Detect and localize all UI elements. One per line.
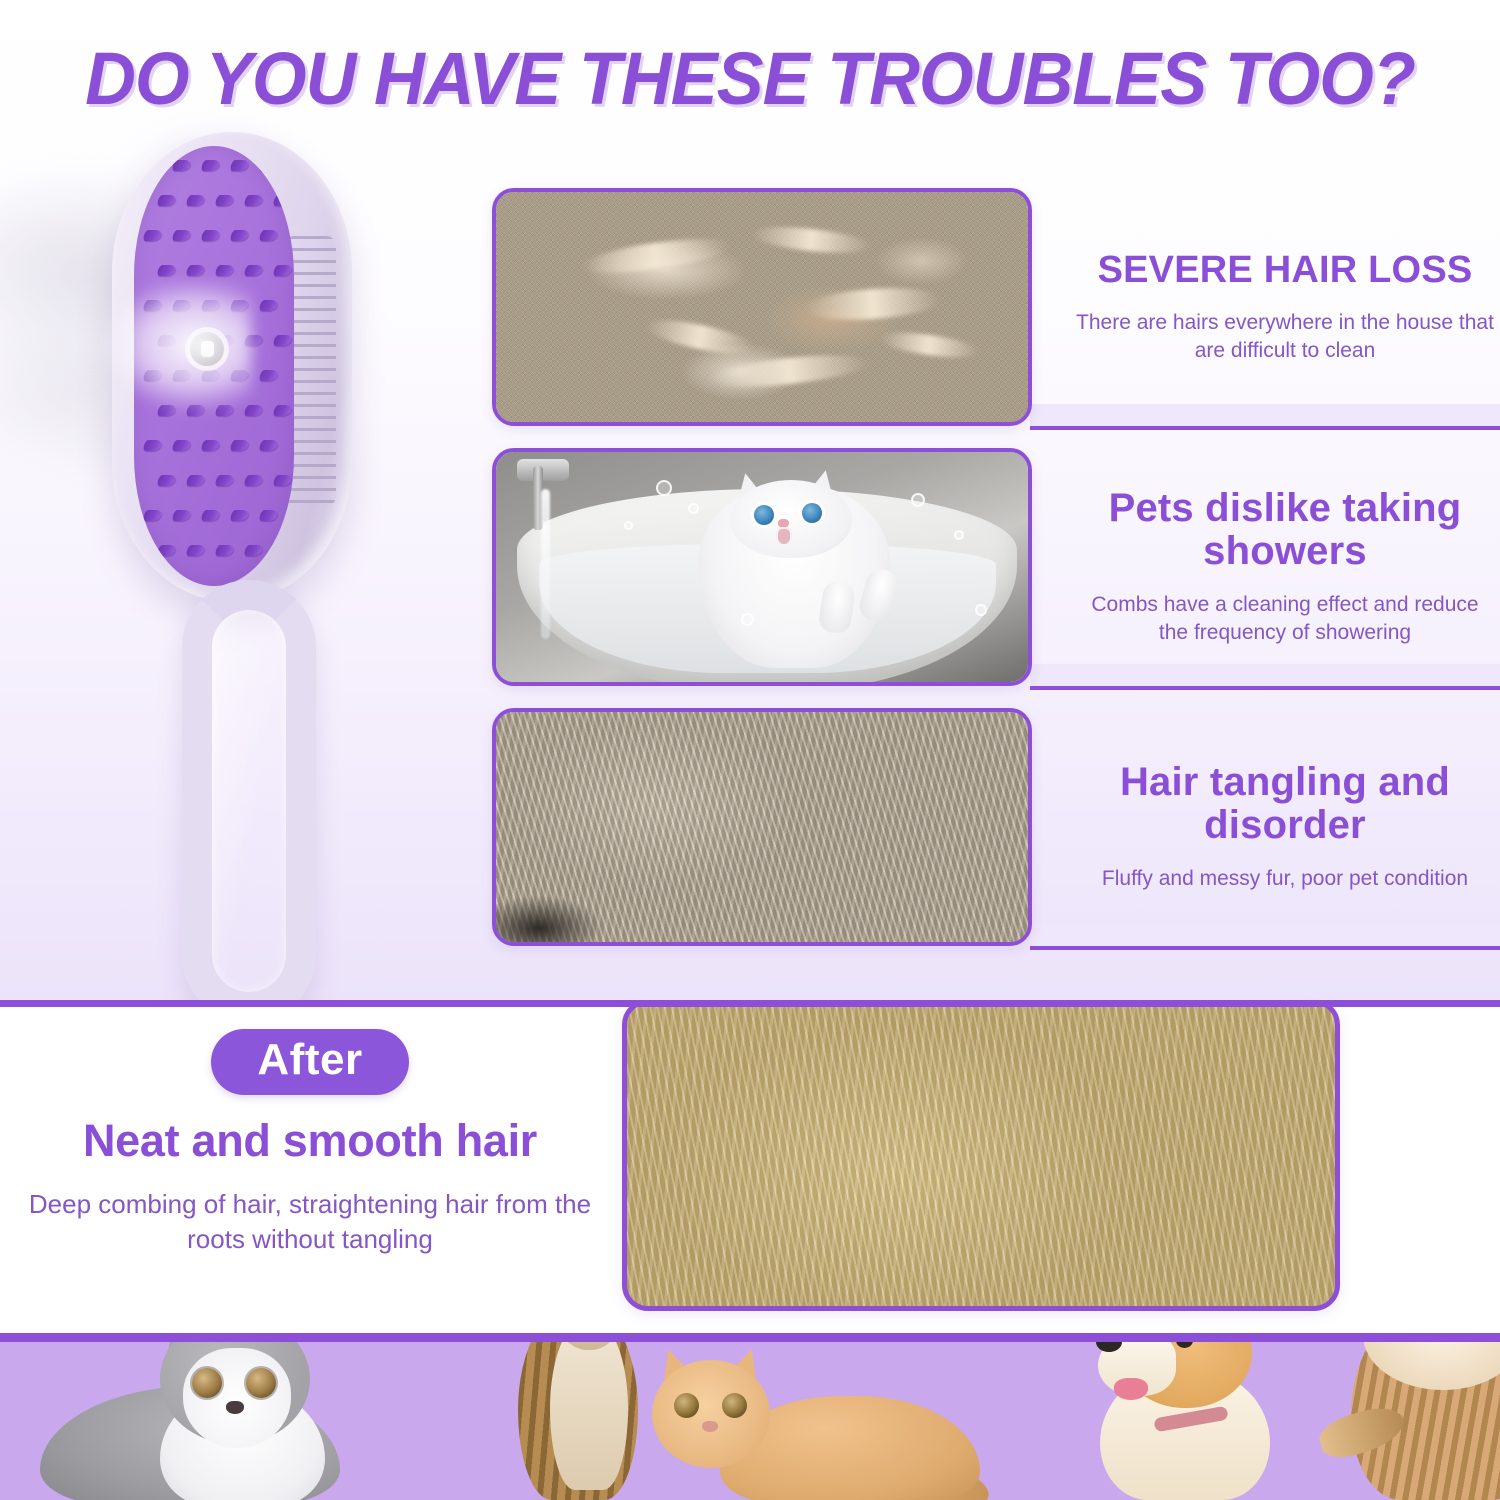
bristle-icon [214,405,234,416]
bristle-icon [171,510,191,521]
after-subtitle: Deep combing of hair, straightening hair… [0,1187,620,1257]
bristle-icon [258,370,278,381]
brush-body [112,132,352,602]
bristle-icon [214,195,234,206]
bristle-icon [200,370,220,381]
bristle-icon [200,230,220,241]
problem-subtitle: There are hairs everywhere in the house … [1074,309,1496,364]
problem-subtitle: Fluffy and messy fur, poor pet condition [1102,865,1468,893]
bristle-icon [214,545,234,556]
dog-nose-icon [1096,1333,1122,1352]
bristle-icon [214,475,234,486]
tangled-fur-photo [496,712,1028,942]
bristle-icon [272,335,292,346]
steam-nozzle-icon [190,332,224,366]
problem-row: SEVERE HAIR LOSS There are hairs everywh… [470,188,1500,426]
cat-face [183,1348,291,1448]
page-headline: DO YOU HAVE THESE TROUBLES TOO? [38,36,1463,121]
bristle-icon [171,440,191,451]
cat-eye-icon [674,1393,699,1418]
problem-text-block: Pets dislike taking showers Combs have a… [1070,448,1500,686]
pet-band [0,1333,1500,1500]
cat-bathtub-photo [496,452,1028,682]
bristle-icon [229,160,249,171]
bristle-icon [156,335,176,346]
cat-head [1379,1333,1500,1340]
bristle-icon [171,230,191,241]
bristle-icon [142,230,162,241]
problem-subtitle: Combs have a cleaning effect and reduce … [1074,591,1496,646]
problem-text-block: SEVERE HAIR LOSS There are hairs everywh… [1070,188,1500,426]
bristle-icon [272,475,292,486]
row-divider [1030,686,1500,690]
bristle-icon [142,440,162,451]
cat-eye-icon [754,505,774,525]
cat-mouth-icon [776,527,792,546]
dog-tongue-icon [1114,1378,1148,1400]
pet-corgi-dog [1060,1333,1320,1500]
problem-photo-shower [492,448,1032,686]
bristle-icon [243,545,263,556]
bristle-icon [171,300,191,311]
bristle-icon [272,405,292,416]
row-divider [1030,426,1500,430]
cat-eye-icon [246,1368,276,1398]
bristle-icon [272,195,292,206]
problem-title: Hair tangling and disorder [1074,761,1496,847]
section-divider [0,1000,1500,1007]
cat-nose-icon [226,1401,244,1414]
product-infographic-page: DO YOU HAVE THESE TROUBLES TOO? [0,0,1500,1500]
bristle-icon [272,265,292,276]
after-badge: After [211,1029,408,1095]
troubles-section: DO YOU HAVE THESE TROUBLES TOO? [0,0,1500,1002]
dog-eye-icon [1176,1333,1193,1348]
cat-nose-icon [702,1421,718,1432]
bristle-icon [156,195,176,206]
problem-title: SEVERE HAIR LOSS [1098,250,1473,291]
bristle-icon [156,475,176,486]
cat-eye-icon [192,1368,222,1398]
problem-row: Pets dislike taking showers Combs have a… [470,448,1500,686]
bristle-icon [243,335,263,346]
cat-chest [550,1333,628,1490]
water-stream [541,489,550,639]
bristle-icon [200,510,220,521]
bristle-icon [200,160,220,171]
problem-photo-hair-loss [492,188,1032,426]
bristle-icon [258,230,278,241]
bristle-icon [171,160,191,171]
bristle-icon [258,300,278,311]
bristle-icon [229,230,249,241]
bristle-icon [243,265,263,276]
bristle-icon [243,405,263,416]
carpet-hair-photo [496,192,1028,422]
cat-head [652,1360,770,1468]
brush-bristle-pad [134,146,294,586]
bristle-icon [156,405,176,416]
problem-title: Pets dislike taking showers [1074,487,1496,573]
cat-eye-icon [722,1393,747,1418]
bristle-icon [200,440,220,451]
after-photo-smooth-fur [622,1007,1340,1311]
bristle-icon [272,545,292,556]
pet-ginger-cat [640,1334,980,1500]
cat-head [730,480,852,558]
problem-row: Hair tangling and disorder Fluffy and me… [470,708,1500,946]
cat-eye-icon [802,503,822,523]
bristle-icon [258,440,278,451]
pet-fluffy-ginger-cat [1335,1333,1500,1500]
bristle-icon [229,370,249,381]
bristle-icon [243,195,263,206]
bristle-icon [214,265,234,276]
bristle-icon [171,370,191,381]
bristle-icon [185,475,205,486]
problem-photo-tangling [492,708,1032,946]
brush-handle [182,580,316,1002]
bristle-icon [156,545,176,556]
faucet-head-icon [517,459,569,481]
bristle-icon [258,160,278,171]
bristle-icon [142,160,162,171]
bristle-icon [185,545,205,556]
bristle-icon [243,475,263,486]
bristle-icon [185,405,205,416]
bristle-icon [142,370,162,381]
problem-rows: SEVERE HAIR LOSS There are hairs everywh… [470,170,1500,950]
bristle-icon [142,510,162,521]
bristle-icon [156,265,176,276]
bristle-icon [200,300,220,311]
bristle-icon [229,300,249,311]
bristle-icon [229,440,249,451]
after-title: Neat and smooth hair [0,1115,620,1167]
product-image [104,132,434,932]
bristle-icon [258,510,278,521]
problem-text-block: Hair tangling and disorder Fluffy and me… [1070,708,1500,946]
after-text-block: After Neat and smooth hair Deep combing … [0,1029,620,1257]
row-divider [1030,946,1500,950]
bristle-icon [185,195,205,206]
pet-grey-shorthair-cat [40,1333,370,1500]
bristle-icon [142,300,162,311]
bristle-icon [185,265,205,276]
bristle-icon [229,510,249,521]
